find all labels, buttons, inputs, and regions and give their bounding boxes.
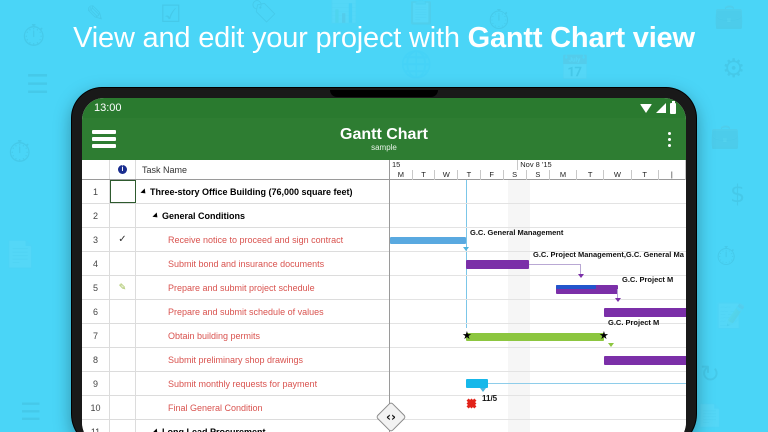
table-row[interactable]: 4 Submit bond and insurance documents xyxy=(82,252,389,276)
row-indicator[interactable] xyxy=(110,204,136,227)
app-bar-titles: Gantt Chart sample xyxy=(82,126,686,153)
row-task-label: Submit bond and insurance documents xyxy=(168,259,324,269)
row-task-label: Prepare and submit project schedule xyxy=(168,283,315,293)
day-cell: W xyxy=(604,170,631,180)
row-id: 10 xyxy=(82,396,110,419)
headline-normal: View and edit your project with xyxy=(73,22,467,54)
dependency-arrow-icon xyxy=(578,274,584,278)
document-icon: 📄 xyxy=(696,406,723,428)
currency-icon: $ xyxy=(730,182,745,206)
row-task-label: Prepare and submit schedule of values xyxy=(168,307,324,317)
row-id: 3 xyxy=(82,228,110,251)
deadline-date-label: 11/5 xyxy=(482,394,497,403)
row-task-label: Long Lead Procurement xyxy=(162,427,266,432)
row-task-name[interactable]: Prepare and submit schedule of values xyxy=(136,300,389,323)
table-row[interactable]: 8 Submit preliminary shop drawings xyxy=(82,348,389,372)
info-icon: i xyxy=(118,165,127,174)
row-id: 6 xyxy=(82,300,110,323)
table-row[interactable]: 9 Submit monthly requests for payment xyxy=(82,372,389,396)
row-id: 1 xyxy=(82,180,110,203)
timeline-body[interactable]: G.C. General Management G.C. Project Man… xyxy=(390,180,686,432)
row-id: 11 xyxy=(82,420,110,432)
row-indicator[interactable] xyxy=(110,348,136,371)
list-icon: ☰ xyxy=(26,72,49,98)
row-task-name[interactable]: Final General Condition xyxy=(136,396,389,419)
phone-notch xyxy=(330,90,438,97)
row-task-name[interactable]: Prepare and submit project schedule xyxy=(136,276,389,299)
gantt-bar[interactable] xyxy=(466,379,488,388)
timeline-row[interactable]: ★ ★ xyxy=(390,324,686,348)
table-row[interactable]: 3 ✓ Receive notice to proceed and sign c… xyxy=(82,228,389,252)
row-task-label: Receive notice to proceed and sign contr… xyxy=(168,235,343,245)
collapse-triangle-icon[interactable] xyxy=(152,212,159,219)
week-label: Nov 8 '15 xyxy=(518,160,686,170)
header-id xyxy=(82,160,110,179)
milestone-star-icon: ★ xyxy=(462,331,472,342)
week-label: 15 xyxy=(390,160,518,170)
hamburger-icon[interactable] xyxy=(92,130,116,148)
row-id: 4 xyxy=(82,252,110,275)
row-task-label: Submit preliminary shop drawings xyxy=(168,355,303,365)
table-row[interactable]: 5 ✎ Prepare and submit project schedule xyxy=(82,276,389,300)
row-id: 7 xyxy=(82,324,110,347)
gantt-bar[interactable] xyxy=(466,260,529,269)
status-bar: 13:00 xyxy=(82,98,686,118)
dependency-arrow-icon xyxy=(463,247,469,251)
gantt-bar-label: G.C. General Management xyxy=(470,228,563,238)
timeline-row[interactable]: G.C. General Management xyxy=(390,228,686,252)
phone-screen: 13:00 Gantt Chart sample xyxy=(82,98,686,432)
gantt-bar[interactable] xyxy=(604,308,686,317)
day-cell: T xyxy=(632,170,659,180)
row-task-name[interactable]: Obtain building permits xyxy=(136,324,389,347)
row-indicator[interactable] xyxy=(110,396,136,419)
day-cell: | xyxy=(659,170,686,180)
table-row[interactable]: 2 General Conditions xyxy=(82,204,389,228)
row-id: 9 xyxy=(82,372,110,395)
wifi-icon xyxy=(640,104,652,113)
note-icon: ✎ xyxy=(119,282,127,293)
row-task-label: Final General Condition xyxy=(168,403,263,413)
timeline-row[interactable]: G.C. Project Management,G.C. General Ma xyxy=(390,252,686,276)
document-icon: 📄 xyxy=(4,242,36,268)
table-row[interactable]: 1 Three-story Office Building (76,000 sq… xyxy=(82,180,389,204)
day-cell: T xyxy=(458,170,481,180)
row-indicator[interactable] xyxy=(110,300,136,323)
dependency-link xyxy=(529,264,581,265)
briefcase-icon: 💼 xyxy=(710,124,740,148)
dependency-arrow-icon xyxy=(480,388,486,392)
headline-bold: Gantt Chart view xyxy=(468,22,695,54)
page-subtitle: sample xyxy=(82,143,686,153)
chart-icon: 📊 xyxy=(330,2,357,24)
timeline-row[interactable] xyxy=(390,348,686,372)
timeline-row[interactable] xyxy=(390,180,686,204)
row-indicator[interactable] xyxy=(110,372,136,395)
day-cell: T xyxy=(577,170,604,180)
timeline-row[interactable] xyxy=(390,420,686,432)
row-task-name[interactable]: General Conditions xyxy=(136,204,389,227)
day-cell: M xyxy=(390,170,413,180)
day-cell: S xyxy=(527,170,550,180)
row-id: 2 xyxy=(82,204,110,227)
row-indicator[interactable]: ✓ xyxy=(110,228,136,251)
timeline-row[interactable]: G.C. Project M xyxy=(390,276,686,300)
row-indicator[interactable] xyxy=(110,180,136,203)
gantt-timeline[interactable]: 15 Nov 8 '15 M T W T F S S M T W T xyxy=(390,160,686,432)
clipboard-icon: 📋 xyxy=(406,0,436,24)
row-task-name[interactable]: Submit monthly requests for payment xyxy=(136,372,389,395)
table-row[interactable]: 7 Obtain building permits xyxy=(82,324,389,348)
battery-icon xyxy=(670,103,676,114)
scroll-glyph: ‹› xyxy=(378,404,404,430)
day-cell: T xyxy=(413,170,436,180)
row-task-name[interactable]: Submit preliminary shop drawings xyxy=(136,348,389,371)
clock-icon: ⏱ xyxy=(716,244,736,270)
status-time: 13:00 xyxy=(94,102,122,114)
clock-icon: ⏱ xyxy=(8,138,31,168)
day-cell: W xyxy=(435,170,458,180)
row-task-name[interactable]: Submit bond and insurance documents xyxy=(136,252,389,275)
table-header-row: i Task Name xyxy=(82,160,389,180)
row-task-label: Three-story Office Building (76,000 squa… xyxy=(150,187,353,197)
dependency-link xyxy=(488,383,686,384)
list-icon: ☰ xyxy=(20,400,42,424)
phone-mockup: 13:00 Gantt Chart sample xyxy=(72,88,696,432)
timeline-row[interactable] xyxy=(390,372,686,396)
dependency-arrow-icon xyxy=(608,343,614,347)
task-table[interactable]: i Task Name 1 Three-story Office Buildin… xyxy=(82,160,390,432)
row-indicator[interactable] xyxy=(110,252,136,275)
headline: View and edit your project with Gantt Ch… xyxy=(0,22,768,55)
status-icons xyxy=(640,103,676,114)
row-indicator[interactable] xyxy=(110,324,136,347)
row-task-name[interactable]: Receive notice to proceed and sign contr… xyxy=(136,228,389,251)
day-cell: F xyxy=(481,170,504,180)
timeline-days: M T W T F S S M T W T | xyxy=(390,170,686,180)
calendar-icon: 📅 xyxy=(560,56,590,80)
page-title: Gantt Chart xyxy=(82,126,686,143)
row-id: 5 xyxy=(82,276,110,299)
gantt-bar[interactable] xyxy=(466,333,604,341)
collapse-triangle-icon[interactable] xyxy=(140,188,147,195)
table-row[interactable]: 6 Prepare and submit schedule of values xyxy=(82,300,389,324)
timeline-row[interactable]: G.C. Project M xyxy=(390,300,686,324)
row-id: 8 xyxy=(82,348,110,371)
signal-icon xyxy=(656,103,666,113)
app-bar: Gantt Chart sample xyxy=(82,118,686,160)
row-task-name[interactable]: Three-story Office Building (76,000 squa… xyxy=(136,180,389,203)
day-cell: M xyxy=(550,170,577,180)
gantt-bar-progress xyxy=(556,285,596,289)
day-cell: S xyxy=(504,170,527,180)
gantt-bar[interactable] xyxy=(390,237,466,244)
header-task-name: Task Name xyxy=(136,160,389,179)
timeline-weeks: 15 Nov 8 '15 xyxy=(390,160,686,170)
gear-icon: ⚙ xyxy=(722,56,745,82)
deadline-marker-icon xyxy=(467,399,477,409)
dependency-arrow-icon xyxy=(615,298,621,302)
table-row[interactable]: 10 Final General Condition xyxy=(82,396,389,420)
gantt-bar[interactable] xyxy=(604,356,686,365)
note-add-icon: 📝 xyxy=(716,304,746,328)
milestone-star-icon: ★ xyxy=(599,331,609,342)
header-indicator: i xyxy=(110,160,136,179)
timeline-header: 15 Nov 8 '15 M T W T F S S M T W T xyxy=(390,160,686,180)
refresh-icon: ↻ xyxy=(700,362,720,386)
gantt-bar-label: G.C. Project Management,G.C. General Ma xyxy=(533,250,684,260)
row-indicator[interactable] xyxy=(110,420,136,432)
timeline-row[interactable] xyxy=(390,204,686,228)
row-task-label: General Conditions xyxy=(162,211,245,221)
row-task-name[interactable]: Long Lead Procurement xyxy=(136,420,389,432)
row-indicator[interactable]: ✎ xyxy=(110,276,136,299)
check-icon: ✓ xyxy=(118,234,126,245)
overflow-menu-icon[interactable] xyxy=(662,129,676,149)
left-right-scroll-icon[interactable]: ‹› xyxy=(378,404,404,430)
timeline-row[interactable]: 11/5 xyxy=(390,396,686,420)
gantt-content: i Task Name 1 Three-story Office Buildin… xyxy=(82,160,686,432)
collapse-triangle-icon[interactable] xyxy=(152,428,159,432)
row-task-label: Obtain building permits xyxy=(168,331,260,341)
table-row[interactable]: 11 Long Lead Procurement xyxy=(82,420,389,432)
gantt-bar-label: G.C. Project M xyxy=(622,275,673,285)
row-task-label: Submit monthly requests for payment xyxy=(168,379,317,389)
globe-icon: 🌐 xyxy=(400,52,432,78)
tag-icon: 🏷 xyxy=(250,2,278,24)
